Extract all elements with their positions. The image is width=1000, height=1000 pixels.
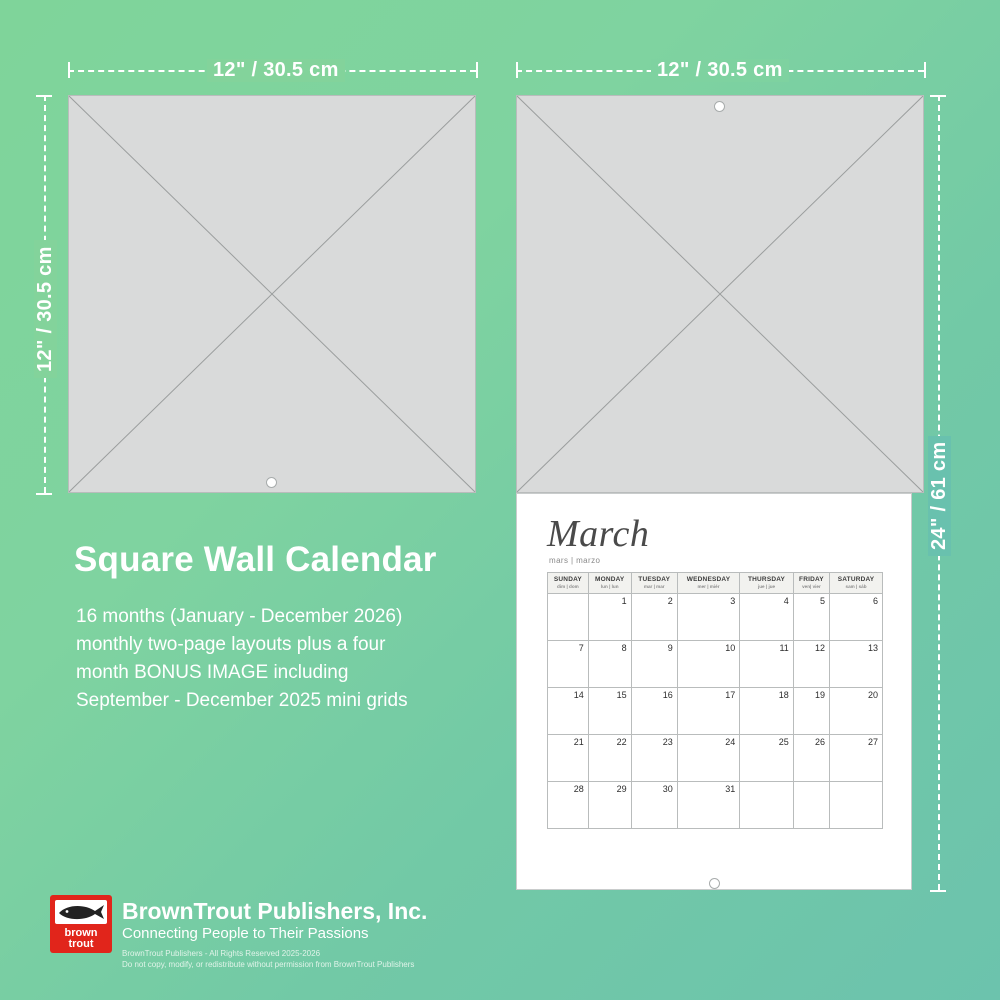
- calendar-grid-page: March mars | marzo SUNDAY dim | dom MOND…: [516, 493, 912, 890]
- calendar-day-cell: [830, 782, 883, 829]
- product-mockup-canvas: 12" / 30.5 cm 12" / 30.5 cm 12" / 30.5 c…: [0, 0, 1000, 1000]
- calendar-week-row: 28 29 30 31: [548, 782, 883, 829]
- publisher-tagline: Connecting People to Their Passions: [122, 925, 369, 942]
- calendar-day-cell: 18: [740, 688, 794, 735]
- calendar-header-sunday: SUNDAY dim | dom: [548, 573, 589, 594]
- calendar-header-monday: MONDAY lun | lun: [588, 573, 631, 594]
- hanging-hole-calendar-bottom: [709, 878, 720, 889]
- calendar-day-cell: 28: [548, 782, 589, 829]
- calendar-day-cell: 16: [631, 688, 677, 735]
- legal-notice: BrownTrout Publishers - All Rights Reser…: [122, 948, 414, 970]
- weekday-alt: sam | sáb: [830, 584, 882, 590]
- dimension-cap-left-bottom: [36, 493, 52, 495]
- calendar-day-cell: 1: [588, 594, 631, 641]
- description-line: September - December 2025 mini grids: [76, 687, 516, 715]
- calendar-day-cell: 21: [548, 735, 589, 782]
- calendar-week-row: 1 2 3 4 5 6: [548, 594, 883, 641]
- calendar-month-subtitle: mars | marzo: [549, 556, 600, 565]
- calendar-header-wednesday: WEDNESDAY mer | miér: [677, 573, 739, 594]
- calendar-day-cell: 22: [588, 735, 631, 782]
- calendar-day-cell: 14: [548, 688, 589, 735]
- weekday-alt: lun | lun: [589, 584, 631, 590]
- calendar-day-cell: 6: [830, 594, 883, 641]
- weekday-name: THURSDAY: [740, 576, 793, 584]
- weekday-name: SUNDAY: [548, 576, 588, 584]
- calendar-day-cell: 17: [677, 688, 739, 735]
- calendar-week-row: 7 8 9 10 11 12 13: [548, 641, 883, 688]
- calendar-day-cell: 8: [588, 641, 631, 688]
- dimension-label-top-right: 12" / 30.5 cm: [651, 59, 789, 82]
- calendar-day-cell: 13: [830, 641, 883, 688]
- dimension-label-left-vertical: 12" / 30.5 cm: [34, 240, 57, 378]
- calendar-day-cell: 2: [631, 594, 677, 641]
- placeholder-cross-icon: [69, 96, 475, 492]
- calendar-day-cell: 27: [830, 735, 883, 782]
- calendar-day-cell: 19: [793, 688, 829, 735]
- dimension-cap-right-bottom: [930, 890, 946, 892]
- legal-line: Do not copy, modify, or redistribute wit…: [122, 959, 414, 970]
- dimension-cap-top-right-end: [924, 62, 926, 78]
- calendar-day-cell: 5: [793, 594, 829, 641]
- browntrout-logo: brown trout: [50, 895, 112, 953]
- calendar-month-title: March: [547, 512, 649, 556]
- calendar-header-friday: FRIDAY ven| vier: [793, 573, 829, 594]
- description-line: monthly two-page layouts plus a four: [76, 631, 516, 659]
- weekday-alt: ven| vier: [794, 584, 829, 590]
- calendar-day-cell: 31: [677, 782, 739, 829]
- weekday-alt: mer | miér: [678, 584, 739, 590]
- calendar-week-row: 14 15 16 17 18 19 20: [548, 688, 883, 735]
- calendar-day-cell: 9: [631, 641, 677, 688]
- cover-art-placeholder-right: [516, 95, 924, 493]
- product-description: 16 months (January - December 2026) mont…: [76, 603, 516, 715]
- calendar-day-cell: 26: [793, 735, 829, 782]
- logo-word-trout: trout: [50, 938, 112, 950]
- trout-fish-icon: [55, 900, 107, 924]
- description-line: 16 months (January - December 2026): [76, 603, 516, 631]
- page-title: Square Wall Calendar: [74, 540, 437, 580]
- calendar-day-cell: 30: [631, 782, 677, 829]
- description-line: month BONUS IMAGE including: [76, 659, 516, 687]
- calendar-day-cell: 7: [548, 641, 589, 688]
- dimension-cap-top-left-start: [68, 62, 70, 78]
- calendar-day-cell: 10: [677, 641, 739, 688]
- weekday-alt: dim | dom: [548, 584, 588, 590]
- legal-line: BrownTrout Publishers - All Rights Reser…: [122, 948, 414, 959]
- calendar-day-cell: 15: [588, 688, 631, 735]
- hanging-hole-left-panel: [266, 477, 277, 488]
- calendar-day-cell: 24: [677, 735, 739, 782]
- weekday-name: SATURDAY: [830, 576, 882, 584]
- calendar-day-cell: [793, 782, 829, 829]
- weekday-alt: mar | mar: [632, 584, 677, 590]
- calendar-header-tuesday: TUESDAY mar | mar: [631, 573, 677, 594]
- publisher-name: BrownTrout Publishers, Inc.: [122, 898, 427, 925]
- calendar-day-cell: 23: [631, 735, 677, 782]
- calendar-grid-table: SUNDAY dim | dom MONDAY lun | lun TUESDA…: [547, 572, 883, 829]
- weekday-name: FRIDAY: [794, 576, 829, 584]
- trout-fish-glyph: [55, 900, 107, 924]
- weekday-alt: jue | jue: [740, 584, 793, 590]
- calendar-day-cell: 20: [830, 688, 883, 735]
- dimension-cap-top-left-end: [476, 62, 478, 78]
- calendar-header-saturday: SATURDAY sam | sáb: [830, 573, 883, 594]
- weekday-name: WEDNESDAY: [678, 576, 739, 584]
- calendar-header-thursday: THURSDAY jue | jue: [740, 573, 794, 594]
- cover-art-placeholder-left: [68, 95, 476, 493]
- calendar-header-row: SUNDAY dim | dom MONDAY lun | lun TUESDA…: [548, 573, 883, 594]
- dimension-label-top-left: 12" / 30.5 cm: [207, 59, 345, 82]
- calendar-day-cell: [740, 782, 794, 829]
- calendar-day-cell: 25: [740, 735, 794, 782]
- dimension-cap-left-top: [36, 95, 52, 97]
- calendar-week-row: 21 22 23 24 25 26 27: [548, 735, 883, 782]
- calendar-day-cell: 3: [677, 594, 739, 641]
- weekday-name: MONDAY: [589, 576, 631, 584]
- weekday-name: TUESDAY: [632, 576, 677, 584]
- dimension-label-right-vertical: 24" / 61 cm: [928, 436, 951, 556]
- calendar-day-cell: 12: [793, 641, 829, 688]
- dimension-cap-top-right-start: [516, 62, 518, 78]
- calendar-day-cell: 4: [740, 594, 794, 641]
- dimension-cap-right-top: [930, 95, 946, 97]
- calendar-day-cell: 29: [588, 782, 631, 829]
- calendar-day-cell: 11: [740, 641, 794, 688]
- hanging-hole-right-panel-top: [714, 101, 725, 112]
- calendar-day-cell: [548, 594, 589, 641]
- placeholder-cross-icon: [517, 96, 923, 492]
